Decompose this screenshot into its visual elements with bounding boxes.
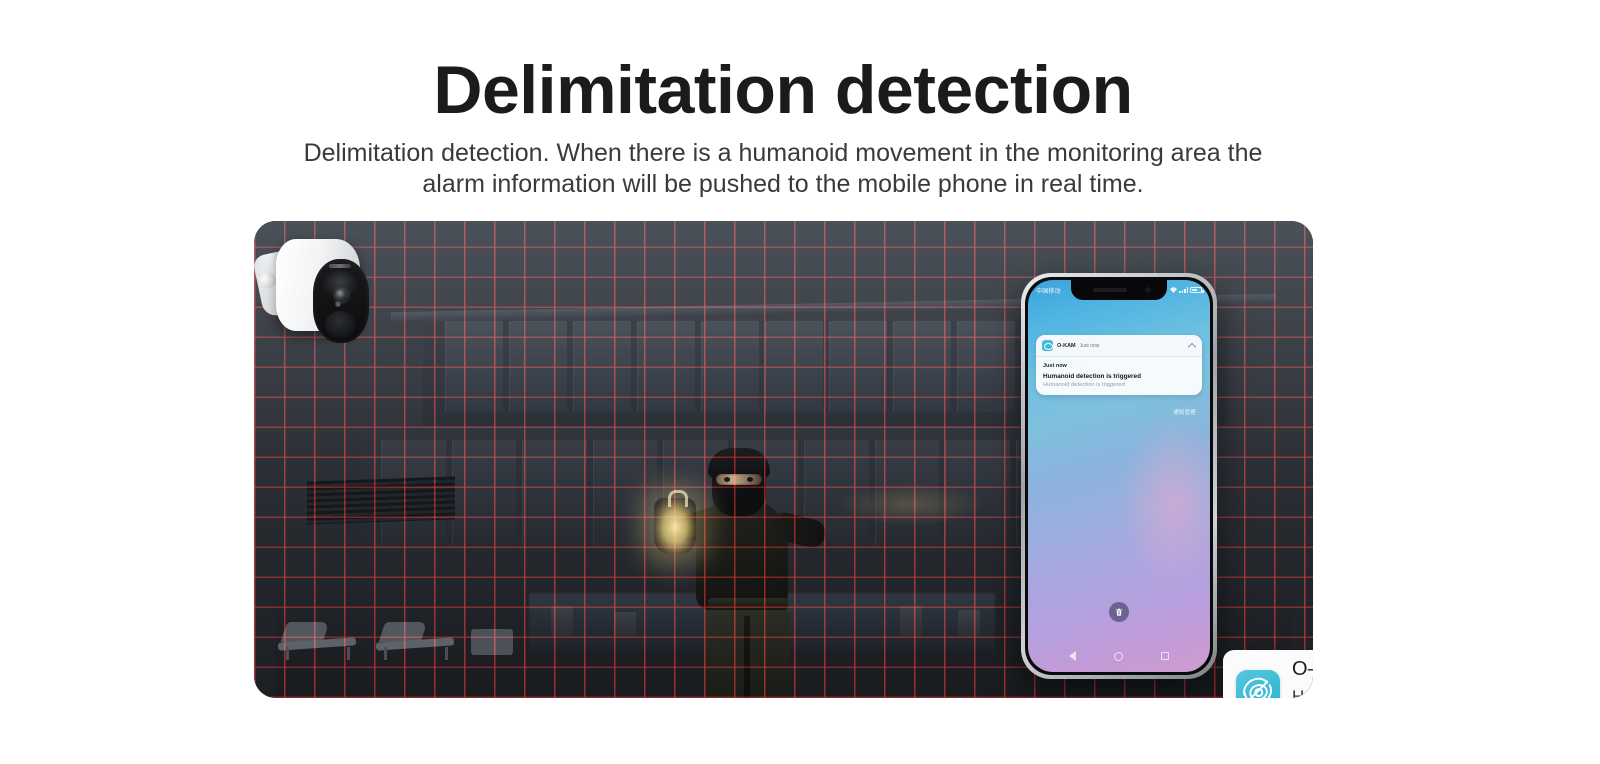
hero-illustration: 中国移动 O-KAM Just no	[254, 221, 1313, 698]
shade-when: Just now	[1043, 363, 1195, 369]
camera-body	[276, 239, 360, 331]
back-triangle-icon[interactable]	[1069, 651, 1076, 661]
okam-logo-glyph	[1236, 670, 1280, 698]
product-feature-page: Delimitation detection Delimitation dete…	[0, 0, 1600, 764]
shade-subtitle: Humanoid detection is triggered	[1043, 382, 1195, 388]
phone-screen: 中国移动 O-KAM Just no	[1028, 280, 1210, 672]
shade-header[interactable]: O-KAM Just now	[1036, 335, 1202, 357]
camera-front-face	[313, 259, 369, 343]
home-circle-icon[interactable]	[1114, 652, 1123, 661]
shade-header-time: Just now	[1080, 343, 1100, 349]
phone-notch	[1071, 280, 1167, 300]
okam-eye-icon	[1042, 340, 1053, 351]
status-icons	[1170, 287, 1202, 293]
wifi-icon	[1170, 287, 1177, 293]
recents-square-icon[interactable]	[1161, 652, 1169, 660]
shade-body[interactable]: Just now Humanoid detection is triggered…	[1036, 357, 1202, 395]
battery-icon	[1190, 287, 1202, 293]
notification-message: Humanoid detection is triggered	[1292, 687, 1313, 699]
shade-title: Humanoid detection is triggered	[1043, 373, 1195, 380]
notification-header-row: O–KAM Just now	[1292, 658, 1313, 681]
trash-icon	[1114, 607, 1124, 617]
phone-notification-shade[interactable]: O-KAM Just now Just now Humanoid detecti…	[1036, 335, 1202, 395]
smartphone-mockup: 中国移动 O-KAM Just no	[1021, 273, 1217, 679]
okam-eye-icon	[1236, 670, 1280, 698]
shade-app-name: O-KAM	[1057, 343, 1076, 349]
carrier-label: 中国移动	[1036, 286, 1061, 295]
camera-speaker	[325, 311, 356, 338]
push-notification-card[interactable]: O–KAM Just now Humanoid detection is tri…	[1223, 650, 1313, 698]
phone-bezel: 中国移动 O-KAM Just no	[1025, 277, 1213, 675]
chevron-up-icon[interactable]	[1188, 342, 1195, 349]
page-subtitle: Delimitation detection. When there is a …	[283, 138, 1283, 200]
security-camera-icon	[258, 223, 370, 345]
clear-notifications-button[interactable]	[1109, 602, 1129, 622]
page-title: Delimitation detection	[0, 48, 1566, 132]
camera-lens-ring	[322, 270, 358, 298]
camera-ir-sensor	[335, 301, 341, 307]
notification-manage-link[interactable]: 通知管理	[1173, 408, 1196, 416]
notification-app-name: O–KAM	[1292, 658, 1313, 681]
camera-status-led	[329, 264, 351, 268]
signal-icon	[1179, 287, 1188, 293]
notification-text-block: O–KAM Just now Humanoid detection is tri…	[1292, 658, 1313, 699]
android-navigation-bar[interactable]	[1028, 646, 1210, 666]
